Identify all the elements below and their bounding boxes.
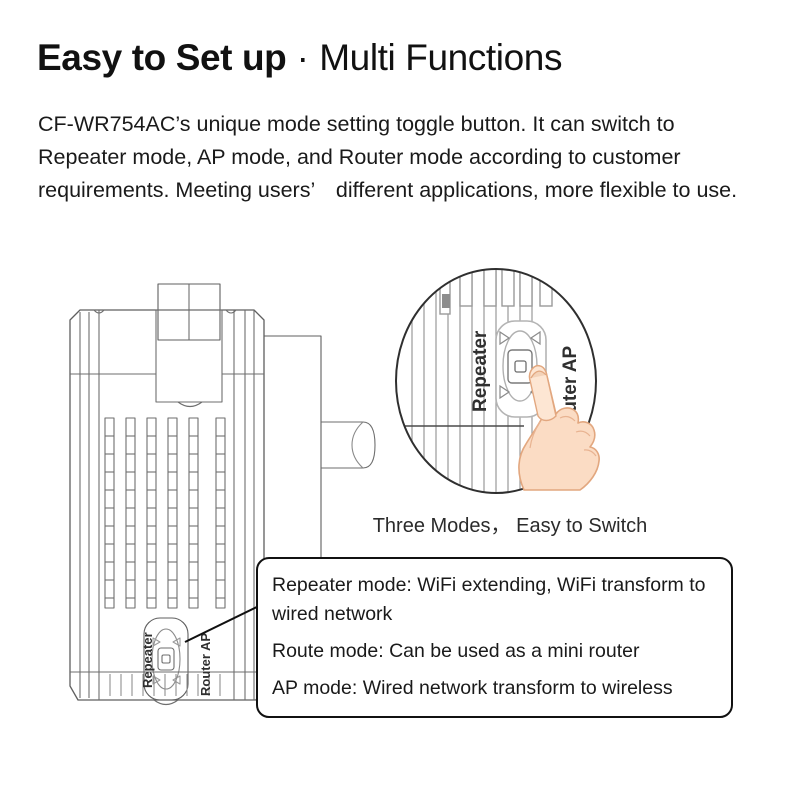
infographic-canvas: Easy to Set up · Multi Functions CF-WR75… [0,0,800,800]
pointing-hand-icon [478,352,608,497]
modes-caption: Three Modes， Easy to Switch [360,509,660,538]
page-title: Easy to Set up · Multi Functions [37,36,777,80]
callout-line-route: Route mode: Can be used as a mini router [272,637,731,666]
page-title-strong: Easy to Set up [37,37,286,78]
callout-spacer-2 [272,666,731,674]
page-title-separator: · [286,37,319,78]
device-switch-label-repeater: Repeater [140,632,155,688]
intro-paragraph: CF-WR754AC’s unique mode setting toggle … [38,108,766,207]
callout-line-ap: AP mode: Wired network transform to wire… [272,674,731,703]
callout-line-repeater: Repeater mode: WiFi extending, WiFi tran… [272,571,724,629]
page-title-rest: Multi Functions [319,37,562,78]
callout-leader-line [185,600,265,650]
callout-spacer [272,629,731,637]
modes-callout-box: Repeater mode: WiFi extending, WiFi tran… [256,557,733,718]
